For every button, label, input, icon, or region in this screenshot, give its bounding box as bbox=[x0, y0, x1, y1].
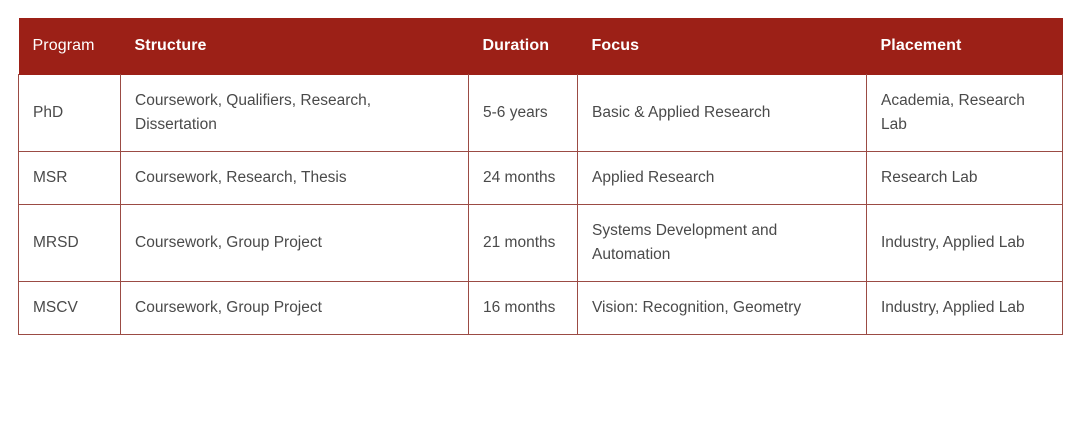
cell-focus: Applied Research bbox=[578, 152, 867, 205]
cell-text: 21 months bbox=[483, 231, 563, 255]
column-header-focus: Focus bbox=[578, 18, 867, 75]
cell-duration: 5-6 years bbox=[469, 75, 578, 152]
cell-text: PhD bbox=[33, 101, 106, 125]
cell-structure: Coursework, Group Project bbox=[121, 282, 469, 335]
cell-text: Basic & Applied Research bbox=[592, 101, 852, 125]
cell-text: Academia, Research Lab bbox=[881, 89, 1048, 137]
cell-text: Industry, Applied Lab bbox=[881, 296, 1048, 320]
cell-text: Systems Development and Automation bbox=[592, 219, 852, 267]
column-header-program: Program bbox=[19, 18, 121, 75]
column-header-duration: Duration bbox=[469, 18, 578, 75]
table-row: MSCV Coursework, Group Project 16 months… bbox=[19, 282, 1063, 335]
cell-text: Industry, Applied Lab bbox=[881, 231, 1048, 255]
cell-focus: Basic & Applied Research bbox=[578, 75, 867, 152]
cell-text: 24 months bbox=[483, 166, 563, 190]
column-header-structure: Structure bbox=[121, 18, 469, 75]
table-row: PhD Coursework, Qualifiers, Research, Di… bbox=[19, 75, 1063, 152]
cell-text: Applied Research bbox=[592, 166, 852, 190]
cell-duration: 16 months bbox=[469, 282, 578, 335]
cell-text: MRSD bbox=[33, 231, 106, 255]
table-body: PhD Coursework, Qualifiers, Research, Di… bbox=[19, 75, 1063, 335]
cell-program: PhD bbox=[19, 75, 121, 152]
cell-placement: Industry, Applied Lab bbox=[867, 205, 1063, 282]
program-comparison-table-container: Program Structure Duration Focus Placeme… bbox=[18, 18, 1062, 335]
cell-text: Research Lab bbox=[881, 166, 1048, 190]
cell-structure: Coursework, Group Project bbox=[121, 205, 469, 282]
table-row: MRSD Coursework, Group Project 21 months… bbox=[19, 205, 1063, 282]
cell-focus: Systems Development and Automation bbox=[578, 205, 867, 282]
cell-text: Coursework, Group Project bbox=[135, 231, 454, 255]
cell-text: 5-6 years bbox=[483, 101, 563, 125]
program-comparison-table: Program Structure Duration Focus Placeme… bbox=[18, 18, 1063, 335]
cell-duration: 24 months bbox=[469, 152, 578, 205]
cell-structure: Coursework, Qualifiers, Research, Disser… bbox=[121, 75, 469, 152]
cell-text: MSCV bbox=[33, 296, 106, 320]
cell-text: MSR bbox=[33, 166, 106, 190]
table-row: MSR Coursework, Research, Thesis 24 mont… bbox=[19, 152, 1063, 205]
cell-placement: Research Lab bbox=[867, 152, 1063, 205]
cell-program: MSR bbox=[19, 152, 121, 205]
cell-text: Vision: Recognition, Geometry bbox=[592, 296, 852, 320]
table-header: Program Structure Duration Focus Placeme… bbox=[19, 18, 1063, 75]
cell-program: MRSD bbox=[19, 205, 121, 282]
cell-program: MSCV bbox=[19, 282, 121, 335]
cell-text: Coursework, Research, Thesis bbox=[135, 166, 454, 190]
cell-text: Coursework, Group Project bbox=[135, 296, 454, 320]
cell-text: 16 months bbox=[483, 296, 563, 320]
cell-placement: Academia, Research Lab bbox=[867, 75, 1063, 152]
cell-focus: Vision: Recognition, Geometry bbox=[578, 282, 867, 335]
column-header-placement: Placement bbox=[867, 18, 1063, 75]
cell-structure: Coursework, Research, Thesis bbox=[121, 152, 469, 205]
cell-text: Coursework, Qualifiers, Research, Disser… bbox=[135, 89, 454, 137]
cell-duration: 21 months bbox=[469, 205, 578, 282]
table-header-row: Program Structure Duration Focus Placeme… bbox=[19, 18, 1063, 75]
cell-placement: Industry, Applied Lab bbox=[867, 282, 1063, 335]
